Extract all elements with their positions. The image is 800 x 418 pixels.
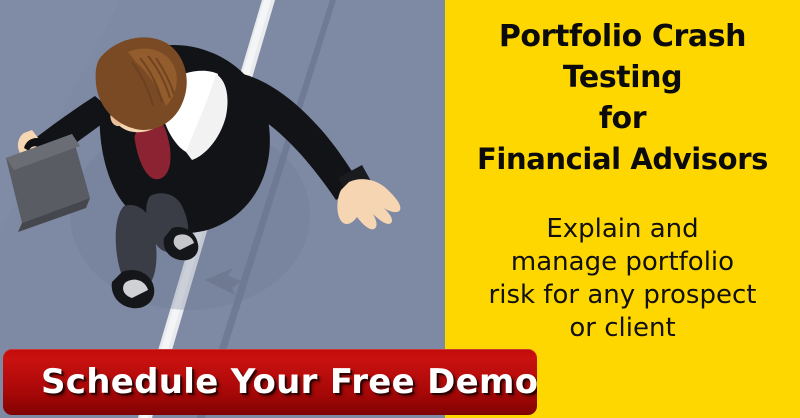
subtitle-text: Explain and manage portfolio risk for an… — [445, 213, 800, 345]
headline-line-4: Financial Advisors — [445, 139, 800, 180]
headline-line-3: for — [445, 98, 800, 139]
headline-line-2: Testing — [445, 57, 800, 98]
schedule-demo-button[interactable]: Schedule Your Free Demo — [3, 349, 537, 415]
subtitle-line-1: Explain and — [445, 213, 800, 246]
page-title: Portfolio Crash Testing for Financial Ad… — [445, 16, 800, 180]
subtitle-line-2: manage portfolio — [445, 246, 800, 279]
promo-banner: Portfolio Crash Testing for Financial Ad… — [0, 0, 800, 418]
headline-line-1: Portfolio Crash — [445, 16, 800, 57]
subtitle-line-3: risk for any prospect — [445, 279, 800, 312]
subtitle-line-4: or client — [445, 312, 800, 345]
schedule-demo-button-label: Schedule Your Free Demo — [3, 362, 537, 402]
